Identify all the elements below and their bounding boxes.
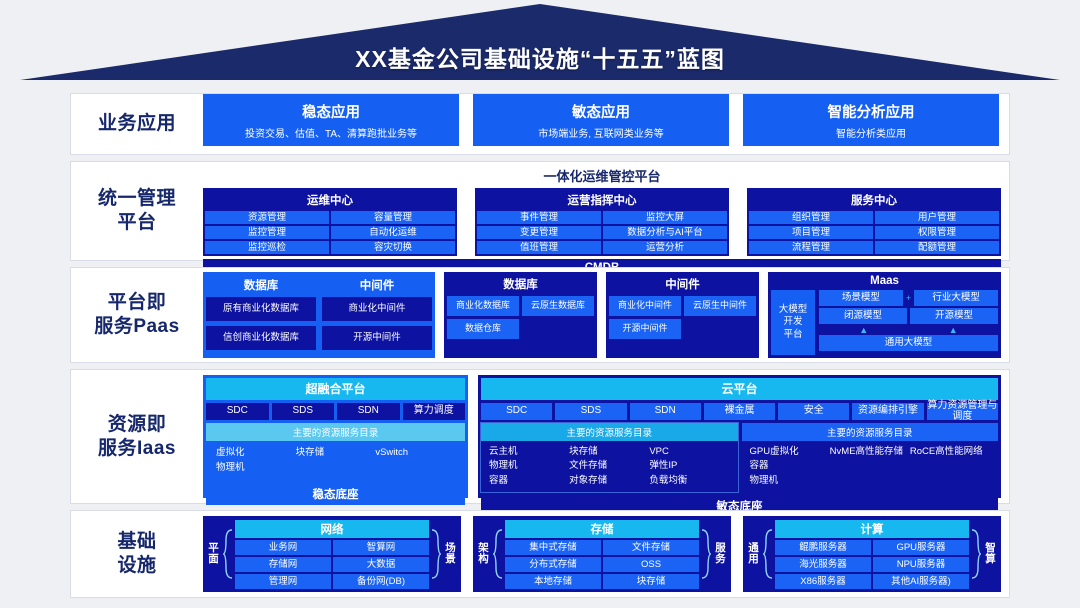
service-item: 对象存储 (569, 474, 649, 488)
paas-cloud-database-group: 数据库 商业化数据库 云原生数据库 数据仓库 (444, 272, 597, 358)
center-item[interactable]: 监控巡检 (205, 241, 329, 254)
center-ops[interactable]: 运维中心 资源管理 容量管理 监控管理 自动化运维 监控巡检 容灾切换 (203, 188, 457, 256)
maas-side-line-2: 开发 (779, 316, 808, 328)
infra-right-label-line-2: 景 (445, 554, 456, 565)
row-body-unified-management: 一体化运维管控平台 运维中心 资源管理 容量管理 监控管理 自动化运维 监控巡检… (203, 162, 1009, 260)
paas-group-title: 中间件 (609, 275, 756, 296)
center-item[interactable]: 容灾切换 (331, 241, 455, 254)
row-body-paas: 数据库 原有商业化数据库 信创商业化数据库 中间件 商业化中间件 开源中间件 数… (203, 268, 1009, 362)
brace-left-icon (763, 520, 773, 588)
infra-item[interactable]: 鲲鹏服务器 (775, 540, 871, 555)
cloud-platform-title: 云平台 (481, 378, 998, 400)
infra-item[interactable]: 海光服务器 (775, 557, 871, 572)
paas-item[interactable]: 商业化中间件 (322, 297, 432, 321)
paas-middleware-column: 中间件 商业化中间件 开源中间件 (322, 275, 432, 355)
brace-right-icon (431, 520, 441, 588)
service-item (910, 474, 990, 488)
row-label-line-2: 服务Iaas (71, 437, 203, 461)
row-infrastructure-as-a-service: 资源即 服务Iaas 超融合平台 SDC SDS SDN 算力调度 主要的资源服… (70, 369, 1010, 504)
center-item[interactable]: 监控大屏 (603, 211, 727, 224)
center-item[interactable]: 数据分析与AI平台 (603, 226, 727, 239)
capability-chip[interactable]: 裸金属 (704, 403, 775, 420)
page-title: XX基金公司基础设施“十五五”蓝图 (0, 40, 1080, 74)
capability-chip[interactable]: SDC (481, 403, 552, 420)
infra-item[interactable]: X86服务器 (775, 574, 871, 589)
service-row: 虚拟化 块存储 vSwitch (216, 446, 455, 461)
service-row: 物理机 文件存储 弹性IP (489, 459, 730, 473)
paas-database-column: 数据库 原有商业化数据库 信创商业化数据库 (206, 275, 316, 355)
infra-item[interactable]: NPU服务器 (873, 557, 969, 572)
infra-item[interactable]: 智算网 (333, 540, 429, 555)
center-title: 运营指挥中心 (477, 190, 727, 211)
arrow-up-icon: ▲ (949, 326, 958, 333)
paas-item[interactable]: 商业化数据库 (447, 296, 519, 316)
infra-item[interactable]: 本地存储 (505, 574, 601, 589)
maas-item[interactable]: 开源模型 (910, 308, 998, 324)
center-item[interactable]: 自动化运维 (331, 226, 455, 239)
paas-cloud-middleware-group: 中间件 商业化中间件 云原生中间件 开源中间件 (606, 272, 759, 358)
infra-left-label-line-2: 面 (208, 554, 219, 565)
center-item[interactable]: 值班管理 (477, 241, 601, 254)
row-label-unified-management: 统一管理 平台 (71, 187, 203, 235)
app-card-intelligent-analysis[interactable]: 智能分析应用 智能分析类应用 (743, 94, 999, 146)
infra-left-label-line-2: 构 (478, 554, 489, 565)
center-item-grid: 组织管理 用户管理 项目管理 权限管理 流程管理 配额管理 (749, 211, 999, 254)
infra-item[interactable]: OSS (603, 557, 699, 572)
row-label-line-1: 平台即 (71, 291, 203, 315)
infra-left-label: 平 面 (206, 520, 221, 588)
paas-column-title: 中间件 (322, 275, 432, 297)
center-item[interactable]: 变更管理 (477, 226, 601, 239)
service-item: 容器 (750, 459, 830, 473)
row-body-infrastructure: 平 面 网络 业务网 智算网 存储网 大数据 管理网 备份网(DB) (203, 511, 1009, 597)
infra-item[interactable]: 存储网 (235, 557, 331, 572)
arrow-up-icon: ▲ (859, 326, 868, 333)
center-item[interactable]: 流程管理 (749, 241, 873, 254)
infra-title: 存储 (505, 520, 699, 538)
paas-item[interactable]: 云原生中间件 (684, 296, 756, 316)
app-card-subtitle: 智能分析类应用 (836, 125, 906, 140)
infra-title: 网络 (235, 520, 429, 538)
infra-right-label-line-2: 算 (985, 554, 996, 565)
cloud-catalog-title: 主要的资源服务目录 (742, 423, 999, 441)
center-title: 服务中心 (749, 190, 999, 211)
cloud-catalog-general: 主要的资源服务目录 云主机 块存储 VPC 物理机 文件存储 弹性IP (481, 423, 738, 492)
service-item: 容器 (489, 474, 569, 488)
service-item: vSwitch (375, 446, 455, 461)
infra-item[interactable]: 文件存储 (603, 540, 699, 555)
capability-chip[interactable]: SDN (630, 403, 701, 420)
service-item: 负载均衡 (649, 474, 729, 488)
center-item[interactable]: 事件管理 (477, 211, 601, 224)
row-label-paas: 平台即 服务Paas (71, 291, 203, 339)
row-label-line-1: 基础 (71, 530, 203, 554)
center-title: 运维中心 (205, 190, 455, 211)
maas-dev-platform[interactable]: 大模型 开发 平台 (771, 290, 815, 355)
center-item-grid: 资源管理 容量管理 监控管理 自动化运维 监控巡检 容灾切换 (205, 211, 455, 254)
service-item (375, 461, 455, 476)
capability-chip[interactable]: SDS (555, 403, 626, 420)
center-item[interactable]: 用户管理 (875, 211, 999, 224)
center-item-grid: 事件管理 监控大屏 变更管理 数据分析与AI平台 值班管理 运营分析 (477, 211, 727, 254)
cloud-capabilities: SDC SDS SDN 裸金属 安全 资源编排引擎 算力资源管理与调度 (481, 403, 998, 420)
row-infrastructure: 基础 设施 平 面 网络 业务网 智算网 (70, 510, 1010, 598)
service-item: 块存储 (296, 446, 376, 461)
infra-item[interactable]: 分布式存储 (505, 557, 601, 572)
center-item[interactable]: 组织管理 (749, 211, 873, 224)
maas-row-source: 闭源模型 开源模型 (819, 308, 998, 324)
infra-core: 存储 集中式存储 文件存储 分布式存储 OSS 本地存储 块存储 (505, 520, 699, 588)
integrated-ops-platform-title: 一体化运维管控平台 (203, 165, 1001, 188)
infra-item[interactable]: 业务网 (235, 540, 331, 555)
service-item (296, 461, 376, 476)
infra-left-label: 通 用 (746, 520, 761, 588)
service-item: 虚拟化 (216, 446, 296, 461)
center-item[interactable]: 项目管理 (749, 226, 873, 239)
cloud-platform: 云平台 SDC SDS SDN 裸金属 安全 资源编排引擎 算力资源管理与调度 … (478, 375, 1001, 498)
infra-right-label: 智 算 (983, 520, 998, 588)
service-item: VPC (649, 445, 729, 459)
hyper-service-list: 虚拟化 块存储 vSwitch 物理机 (206, 441, 465, 480)
maas-item[interactable]: 闭源模型 (819, 308, 907, 324)
infra-right-label-line-2: 务 (715, 554, 726, 565)
center-item[interactable]: 资源管理 (205, 211, 329, 224)
service-item (830, 474, 910, 488)
infra-item[interactable]: 备份网(DB) (333, 574, 429, 589)
hyper-capabilities: SDC SDS SDN 算力调度 (206, 403, 465, 420)
maas-group: Maas 大模型 开发 平台 场景模型 + 行业大模型 (768, 272, 1001, 358)
cloud-catalog-title: 主要的资源服务目录 (481, 423, 738, 441)
row-body-iaas: 超融合平台 SDC SDS SDN 算力调度 主要的资源服务目录 虚拟化 块存储… (203, 370, 1009, 503)
capability-chip[interactable]: 算力调度 (403, 403, 466, 420)
service-item: 云主机 (489, 445, 569, 459)
paas-item[interactable]: 开源中间件 (322, 326, 432, 350)
infra-item[interactable]: GPU服务器 (873, 540, 969, 555)
infra-core: 计算 鲲鹏服务器 GPU服务器 海光服务器 NPU服务器 X86服务器 其他AI… (775, 520, 969, 588)
cloud-catalog-columns: 主要的资源服务目录 云主机 块存储 VPC 物理机 文件存储 弹性IP (481, 423, 998, 492)
plus-icon: + (906, 294, 911, 303)
brace-right-icon (971, 520, 981, 588)
paas-item[interactable]: 数据仓库 (447, 319, 519, 339)
row-unified-management-platform: 统一管理 平台 一体化运维管控平台 运维中心 资源管理 容量管理 监控管理 自动… (70, 161, 1010, 261)
service-row: 容器 对象存储 负载均衡 (489, 474, 730, 488)
row-body-business-applications: 稳态应用 投资交易、估值、TA、清算跑批业务等 敏态应用 市场端业务, 互联网类… (203, 94, 1009, 154)
app-card-title: 稳态应用 (302, 101, 360, 122)
service-item: 物理机 (216, 461, 296, 476)
paas-item[interactable]: 云原生数据库 (522, 296, 594, 316)
service-row: GPU虚拟化 NvME高性能存储 RoCE高性能网络 (750, 445, 991, 459)
row-label-line-2: 服务Paas (71, 315, 203, 339)
hyper-catalog-title: 主要的资源服务目录 (206, 423, 465, 441)
maas-row-scenario: 场景模型 + 行业大模型 (819, 290, 998, 306)
service-row: 云主机 块存储 VPC (489, 445, 730, 459)
maas-arrow-connectors: ▲ ▲ (819, 326, 998, 333)
service-item: RoCE高性能网络 (910, 445, 990, 459)
app-card-title: 敏态应用 (572, 101, 630, 122)
brace-right-icon (701, 520, 711, 588)
blueprint-page: XX基金公司基础设施“十五五”蓝图 业务应用 稳态应用 投资交易、估值、TA、清… (0, 0, 1080, 608)
center-item[interactable]: 权限管理 (875, 226, 999, 239)
cloud-service-list: 云主机 块存储 VPC 物理机 文件存储 弹性IP 容器 (481, 441, 738, 492)
app-card-agile[interactable]: 敏态应用 市场端业务, 互联网类业务等 (473, 94, 729, 146)
service-item (830, 459, 910, 473)
capability-chip[interactable]: SDN (337, 403, 400, 420)
service-item: GPU虚拟化 (750, 445, 830, 459)
paas-item[interactable]: 信创商业化数据库 (206, 326, 316, 350)
service-item: 块存储 (569, 445, 649, 459)
maas-model-stack: 场景模型 + 行业大模型 闭源模型 开源模型 ▲ ▲ 通用大模型 (819, 290, 998, 355)
infra-title: 计算 (775, 520, 969, 538)
infra-item-grid: 鲲鹏服务器 GPU服务器 海光服务器 NPU服务器 X86服务器 其他AI服务器… (775, 540, 969, 589)
infra-left-label-line-2: 用 (748, 554, 759, 565)
app-card-subtitle: 投资交易、估值、TA、清算跑批业务等 (245, 125, 417, 140)
maas-item[interactable]: 行业大模型 (914, 290, 998, 306)
capability-chip[interactable]: 资源编排引擎 (852, 403, 923, 420)
row-label-business-applications: 业务应用 (71, 112, 203, 136)
paas-group-grid: 商业化数据库 云原生数据库 数据仓库 (447, 296, 594, 339)
service-item: 弹性IP (649, 459, 729, 473)
infra-block-compute: 通 用 计算 鲲鹏服务器 GPU服务器 海光服务器 NPU服务器 X86服务器 (743, 516, 1001, 592)
service-row: 容器 (750, 459, 991, 473)
capability-chip[interactable]: SDC (206, 403, 269, 420)
capability-chip[interactable]: 算力资源管理与调度 (927, 403, 998, 420)
paas-legacy-group: 数据库 原有商业化数据库 信创商业化数据库 中间件 商业化中间件 开源中间件 (203, 272, 435, 358)
infra-right-label: 服 务 (713, 520, 728, 588)
cloud-catalog-ai: 主要的资源服务目录 GPU虚拟化 NvME高性能存储 RoCE高性能网络 容器 (742, 423, 999, 492)
row-label-iaas: 资源即 服务Iaas (71, 413, 203, 461)
paas-item[interactable]: 原有商业化数据库 (206, 297, 316, 321)
maas-general-model[interactable]: 通用大模型 (819, 335, 998, 351)
brace-left-icon (493, 520, 503, 588)
row-label-line-2: 平台 (71, 211, 203, 235)
infra-right-label: 场 景 (443, 520, 458, 588)
paas-item[interactable]: 开源中间件 (609, 319, 681, 339)
maas-side-line-1: 大模型 (779, 304, 808, 316)
infra-block-storage: 架 构 存储 集中式存储 文件存储 分布式存储 OSS 本地存储 块存储 (473, 516, 731, 592)
infra-item-grid: 集中式存储 文件存储 分布式存储 OSS 本地存储 块存储 (505, 540, 699, 589)
center-item[interactable]: 运营分析 (603, 241, 727, 254)
maas-title: Maas (771, 275, 998, 290)
center-service[interactable]: 服务中心 组织管理 用户管理 项目管理 权限管理 流程管理 配额管理 (747, 188, 1001, 256)
infra-core: 网络 业务网 智算网 存储网 大数据 管理网 备份网(DB) (235, 520, 429, 588)
row-business-applications: 业务应用 稳态应用 投资交易、估值、TA、清算跑批业务等 敏态应用 市场端业务,… (70, 93, 1010, 155)
infra-item[interactable]: 管理网 (235, 574, 331, 589)
center-item[interactable]: 配额管理 (875, 241, 999, 254)
management-centers: 运维中心 资源管理 容量管理 监控管理 自动化运维 监控巡检 容灾切换 运营指挥… (203, 188, 1001, 256)
capability-chip[interactable]: 安全 (778, 403, 849, 420)
row-label-line-1: 统一管理 (71, 187, 203, 211)
app-card-subtitle: 市场端业务, 互联网类业务等 (538, 125, 664, 140)
banner: XX基金公司基础设施“十五五”蓝图 (0, 0, 1080, 86)
paas-item-placeholder (684, 319, 756, 339)
cloud-service-list: GPU虚拟化 NvME高性能存储 RoCE高性能网络 容器 物理机 (742, 441, 999, 492)
infra-item[interactable]: 大数据 (333, 557, 429, 572)
paas-item-placeholder (522, 319, 594, 339)
center-item[interactable]: 监控管理 (205, 226, 329, 239)
stable-foundation-bar: 稳态底座 (206, 483, 465, 505)
row-label-infrastructure: 基础 设施 (71, 530, 203, 578)
center-operations-command[interactable]: 运营指挥中心 事件管理 监控大屏 变更管理 数据分析与AI平台 值班管理 运营分… (475, 188, 729, 256)
brace-left-icon (223, 520, 233, 588)
hyper-converged-title: 超融合平台 (206, 378, 465, 400)
maas-side-line-3: 平台 (779, 329, 808, 341)
service-item: 物理机 (750, 474, 830, 488)
service-item: 文件存储 (569, 459, 649, 473)
infra-left-label: 架 构 (476, 520, 491, 588)
infra-item-grid: 业务网 智算网 存储网 大数据 管理网 备份网(DB) (235, 540, 429, 589)
paas-column-title: 数据库 (206, 275, 316, 297)
service-item (910, 459, 990, 473)
app-card-title: 智能分析应用 (828, 101, 915, 122)
row-label-line-1: 资源即 (71, 413, 203, 437)
infra-item[interactable]: 块存储 (603, 574, 699, 589)
service-item: NvME高性能存储 (830, 445, 910, 459)
service-row: 物理机 (750, 474, 991, 488)
maas-item[interactable]: 场景模型 (819, 290, 903, 306)
app-card-stable[interactable]: 稳态应用 投资交易、估值、TA、清算跑批业务等 (203, 94, 459, 146)
capability-chip[interactable]: SDS (272, 403, 335, 420)
infra-item[interactable]: 其他AI服务器) (873, 574, 969, 589)
infra-item[interactable]: 集中式存储 (505, 540, 601, 555)
maas-body: 大模型 开发 平台 场景模型 + 行业大模型 闭源模型 (771, 290, 998, 355)
row-platform-as-a-service: 平台即 服务Paas 数据库 原有商业化数据库 信创商业化数据库 中间件 商业化… (70, 267, 1010, 363)
row-label-line-2: 设施 (71, 554, 203, 578)
infra-block-network: 平 面 网络 业务网 智算网 存储网 大数据 管理网 备份网(DB) (203, 516, 461, 592)
service-row: 物理机 (216, 461, 455, 476)
paas-group-title: 数据库 (447, 275, 594, 296)
center-item[interactable]: 容量管理 (331, 211, 455, 224)
hyper-converged-platform: 超融合平台 SDC SDS SDN 算力调度 主要的资源服务目录 虚拟化 块存储… (203, 375, 468, 498)
service-item: 物理机 (489, 459, 569, 473)
paas-item[interactable]: 商业化中间件 (609, 296, 681, 316)
paas-group-grid: 商业化中间件 云原生中间件 开源中间件 (609, 296, 756, 339)
